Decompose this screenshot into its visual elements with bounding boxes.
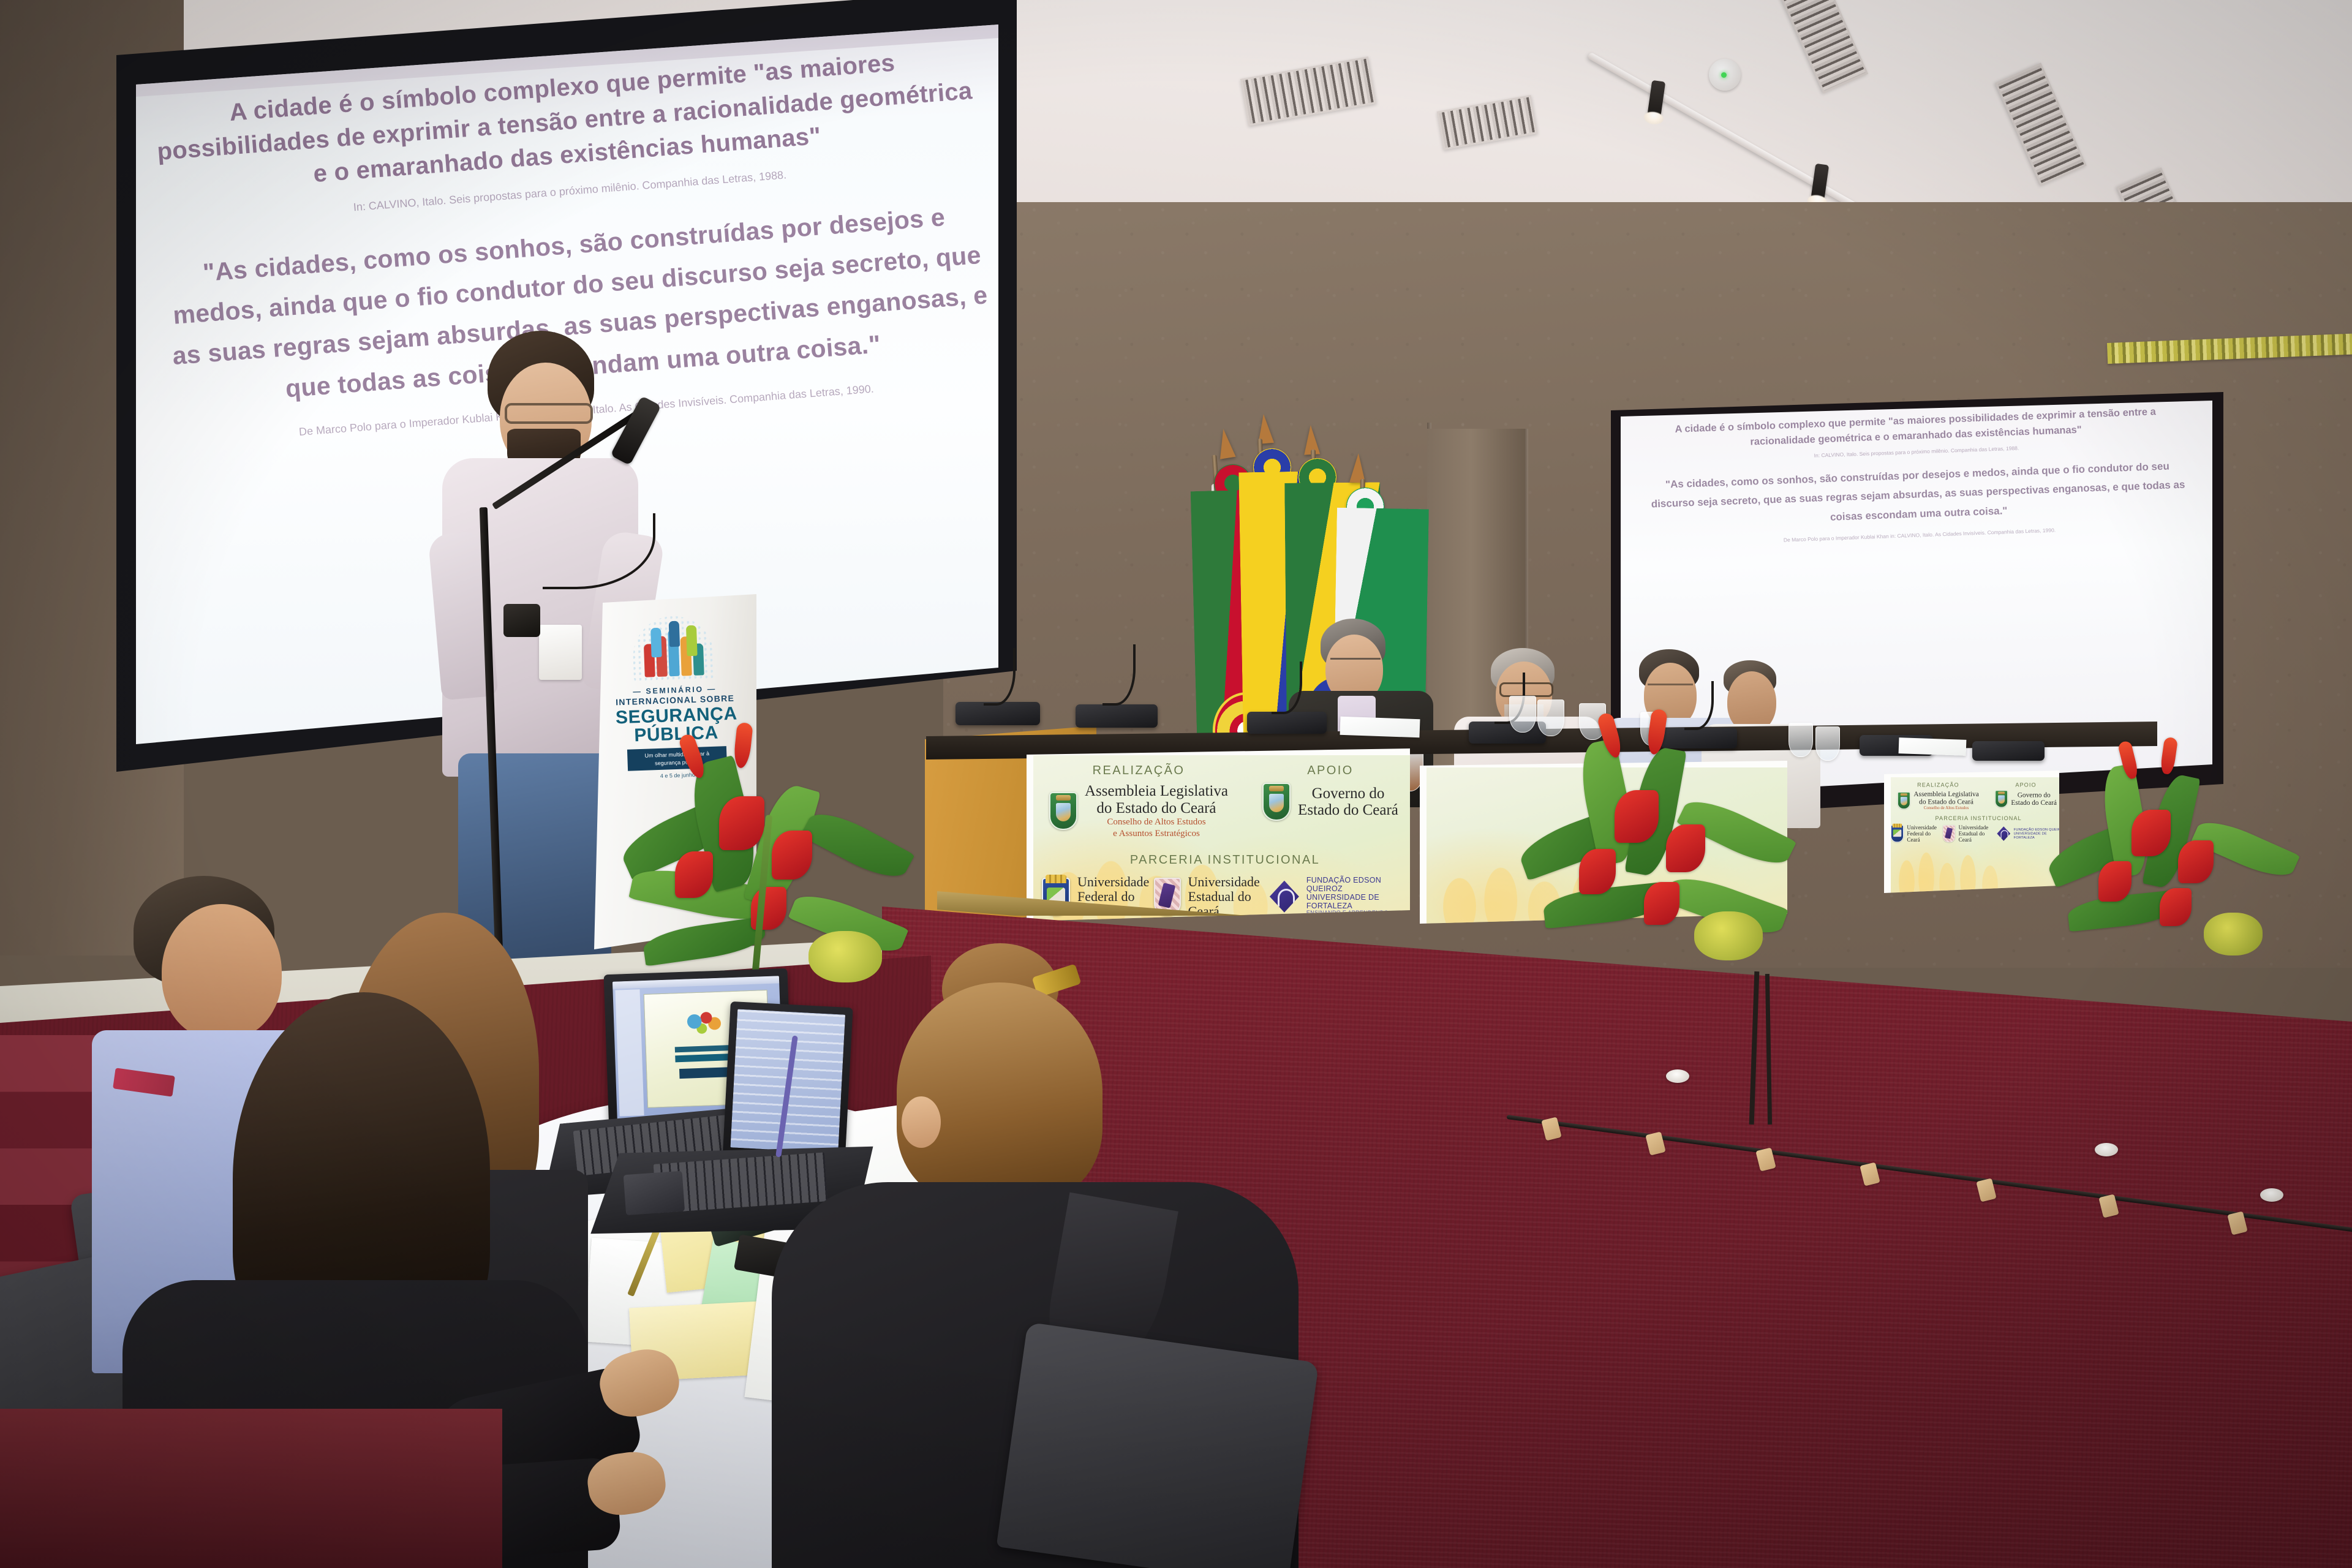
yellow-bloom xyxy=(809,931,882,982)
realizacao-sub-1: Conselho de Altos Estudos xyxy=(1085,816,1228,828)
flower-arrangement-center xyxy=(1513,704,1807,974)
flag-finial-icon xyxy=(1349,453,1366,483)
flower-arrangement-right xyxy=(2040,735,2309,968)
table-mic-base xyxy=(1972,741,2045,761)
banner-apoio-label: APOIO xyxy=(1244,764,1417,778)
audience-hair xyxy=(897,982,1102,1203)
partner-3-line-1: FUNDAÇÃO EDSON QUEIROZ xyxy=(1306,876,1408,894)
hand-shape xyxy=(686,625,698,657)
realizacao-line-1: Assembleia Legislativa xyxy=(1085,783,1228,800)
banner-realizacao-label: REALIZAÇÃO xyxy=(1033,764,1244,778)
table-papers xyxy=(1899,737,1967,756)
table-papers xyxy=(1340,717,1420,738)
speaker-glasses-icon xyxy=(505,403,593,424)
table-mic-base xyxy=(1076,704,1158,728)
unifor-logo-icon xyxy=(1997,826,2010,841)
realizacao-line-2: do Estado do Ceará xyxy=(1085,800,1228,817)
partner-unifor: FUNDAÇÃO EDSON QUEIROZ UNIVERSIDADE DE F… xyxy=(1270,876,1408,916)
speaker-badge xyxy=(539,625,582,680)
smoke-detector-icon xyxy=(1709,59,1741,91)
apoio-line-1: Governo do xyxy=(1298,785,1398,802)
banner3-realizacao-label: REALIZAÇÃO xyxy=(1891,782,1986,788)
floor-light xyxy=(1666,1069,1689,1083)
trackpad xyxy=(624,1171,685,1216)
chair-back xyxy=(997,1322,1319,1568)
yellow-bloom xyxy=(2204,913,2263,956)
realizacao-sub-2: e Assuntos Estratégicos xyxy=(1085,828,1228,840)
apoio-line-2: Estado do Ceará xyxy=(1298,802,1398,819)
unifor-logo-icon xyxy=(1270,881,1299,913)
conference-hall-photo: A cidade é o símbolo complexo que permit… xyxy=(0,0,2352,1568)
ceara-coat-of-arms-icon xyxy=(1898,792,1910,809)
right-slide-quote-2: "As cidades, como os sonhos, são constru… xyxy=(1647,456,2189,534)
floor-light xyxy=(2260,1188,2283,1202)
ufc-crest-icon xyxy=(1891,825,1904,842)
hand-shape xyxy=(650,628,662,658)
partner-1-line-1: Universidade xyxy=(1077,875,1154,889)
mic-clamp xyxy=(503,604,540,637)
banner-parceria-label: PARCERIA INSTITUCIONAL xyxy=(1033,853,1417,867)
ceara-coat-of-arms-icon xyxy=(1995,790,2008,807)
table-mic-base xyxy=(1247,712,1327,734)
partner-2-line-1: Universidade xyxy=(1188,875,1270,889)
ceara-coat-of-arms-icon xyxy=(1262,783,1291,821)
floor-light xyxy=(2095,1143,2118,1156)
panelist-glasses-icon xyxy=(1330,658,1381,669)
raised-hands-logo-icon xyxy=(631,615,715,684)
audience-ear xyxy=(902,1096,941,1148)
partner-3-line-2: UNIVERSIDADE DE FORTALEZA xyxy=(1306,894,1408,911)
audience-head xyxy=(162,904,282,1040)
flower-arrangement-podium xyxy=(606,723,925,1005)
audience-floor-carpet xyxy=(0,1409,502,1568)
water-glass xyxy=(1815,726,1840,761)
hand-shape xyxy=(669,621,680,647)
yellow-bloom xyxy=(1694,911,1763,960)
ceara-coat-of-arms-icon xyxy=(1049,792,1077,830)
uece-crest-icon xyxy=(1943,825,1955,842)
